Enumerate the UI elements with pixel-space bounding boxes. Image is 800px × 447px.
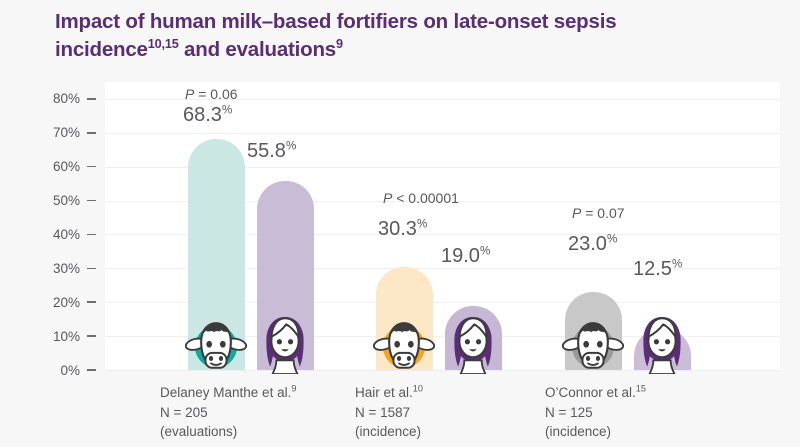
y-axis-tick-mark <box>87 369 96 371</box>
y-axis-tick-label: 40% <box>53 227 80 242</box>
y-axis-tick-mark <box>87 335 96 337</box>
bar-value-number: 68.3 <box>183 104 222 126</box>
study-name: Delaney Manthe et al. <box>160 385 291 400</box>
x-axis-label-1: Delaney Manthe et al.9N = 205(evaluation… <box>160 383 296 442</box>
y-axis-tick-70: 70% <box>53 126 105 140</box>
y-axis-tick-0: 0% <box>60 363 105 377</box>
study-sample-size: N = 205 <box>160 405 208 420</box>
y-axis-tick-label: 20% <box>53 295 80 310</box>
percent-sign: % <box>286 139 296 152</box>
percent-sign: % <box>417 217 427 230</box>
percent-sign: % <box>480 244 490 257</box>
y-axis-tick-label: 60% <box>53 159 80 174</box>
study-sample-size: N = 1587 <box>355 405 410 420</box>
bar-value-label-3-1: 23.0% <box>568 233 617 256</box>
study-reference: 10 <box>413 384 423 394</box>
y-axis-tick-label: 10% <box>53 329 80 344</box>
y-axis-tick-label: 50% <box>53 193 80 208</box>
x-axis-label-2: Hair et al.10N = 1587(incidence) <box>355 383 423 442</box>
study-measure: (incidence) <box>355 424 421 439</box>
y-axis-tick-mark <box>87 301 96 303</box>
y-axis-tick-10: 10% <box>53 329 105 343</box>
girl-icon <box>631 312 693 374</box>
study-name: Hair et al. <box>355 385 413 400</box>
p-value-label-3: P = 0.07 <box>572 205 625 221</box>
bar-value-label-2-2: 19.0% <box>441 245 490 268</box>
chart-title-ref-10-15: 10,15 <box>148 36 179 51</box>
y-axis-tick-80: 80% <box>53 92 105 106</box>
study-sample-size: N = 125 <box>545 405 593 420</box>
y-axis-tick-mark <box>87 166 96 168</box>
y-axis-tick-label: 30% <box>53 261 80 276</box>
chart-title-line2-mid: and evaluations <box>179 38 336 61</box>
p-value-text: = 0.07 <box>581 205 624 221</box>
study-reference: 15 <box>636 384 646 394</box>
chart-title: Impact of human milk–based fortifiers on… <box>55 8 775 63</box>
study-measure: (evaluations) <box>160 424 237 439</box>
bar-value-label-3-2: 12.5% <box>633 258 682 281</box>
girl-icon <box>254 312 316 374</box>
study-measure: (incidence) <box>545 424 611 439</box>
y-axis-tick-mark <box>87 200 96 202</box>
y-axis-tick-mark <box>87 132 96 134</box>
bar-value-number: 30.3 <box>378 218 417 240</box>
bar-value-number: 55.8 <box>247 140 286 162</box>
y-axis-tick-label: 0% <box>60 363 80 378</box>
y-axis-tick-mark <box>87 268 96 270</box>
gridline-70 <box>105 133 780 134</box>
bar-value-number: 19.0 <box>441 245 480 267</box>
y-axis: 80%70%60%50%40%30%20%10%0% <box>0 82 105 370</box>
y-axis-tick-50: 50% <box>53 194 105 208</box>
chart-title-ref-9: 9 <box>336 36 343 51</box>
chart-title-line1: Impact of human milk–based fortifiers on… <box>55 10 616 33</box>
y-axis-tick-40: 40% <box>53 227 105 241</box>
p-symbol: P <box>185 86 194 102</box>
p-value-text: = 0.06 <box>194 86 237 102</box>
girl-icon <box>442 312 504 374</box>
study-name: O’Connor et al. <box>545 385 636 400</box>
cow-icon <box>562 312 624 374</box>
percent-sign: % <box>607 232 617 245</box>
bar-value-number: 23.0 <box>568 233 607 255</box>
chart-title-line2-pre: incidence <box>55 38 148 61</box>
bar-value-label-1-2: 55.8% <box>247 140 296 163</box>
chart-container: Impact of human milk–based fortifiers on… <box>0 0 800 447</box>
y-axis-tick-mark <box>87 234 96 236</box>
y-axis-tick-label: 70% <box>53 125 80 140</box>
cow-icon <box>185 312 247 374</box>
p-symbol: P <box>383 190 392 206</box>
y-axis-tick-60: 60% <box>53 160 105 174</box>
y-axis-tick-label: 80% <box>53 91 80 106</box>
y-axis-tick-20: 20% <box>53 295 105 309</box>
bar-value-number: 12.5 <box>633 258 672 280</box>
study-reference: 9 <box>291 384 296 394</box>
cow-icon <box>373 312 435 374</box>
percent-sign: % <box>222 103 232 116</box>
p-value-text: < 0.00001 <box>392 190 459 206</box>
y-axis-tick-mark <box>87 98 96 100</box>
bar-value-label-1-1: 68.3% <box>183 104 232 127</box>
bar-value-label-2-1: 30.3% <box>378 218 427 241</box>
percent-sign: % <box>672 257 682 270</box>
p-value-label-1: P = 0.06 <box>185 86 238 102</box>
y-axis-tick-30: 30% <box>53 261 105 275</box>
p-symbol: P <box>572 205 581 221</box>
p-value-label-2: P < 0.00001 <box>383 190 459 206</box>
x-axis-label-3: O’Connor et al.15N = 125(incidence) <box>545 383 646 442</box>
